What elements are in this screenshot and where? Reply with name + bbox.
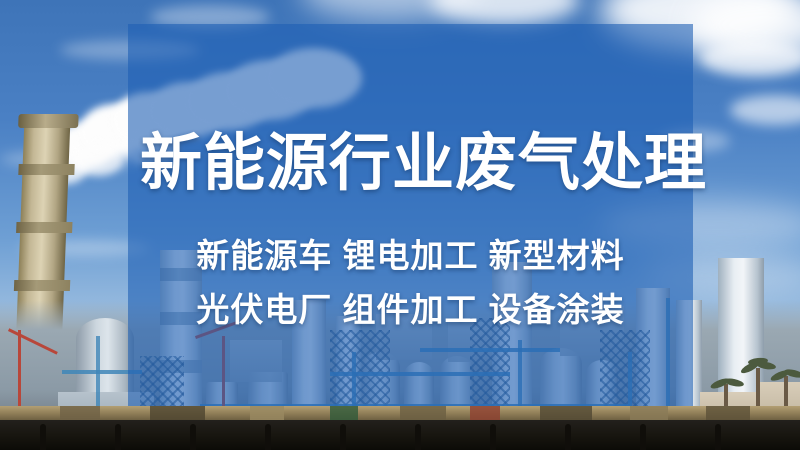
pier-piling (490, 424, 496, 450)
banner-title: 新能源行业废气处理 (140, 132, 681, 196)
smokestack-lip (18, 114, 79, 128)
banner-subtitle-line-2: 光伏电厂 组件加工 设备涂装 (140, 292, 681, 328)
banner-text-layer: 新能源行业废气处理 新能源车 锂电加工 新型材料 光伏电厂 组件加工 设备涂装 (128, 24, 693, 424)
pier-piling (415, 424, 421, 450)
construction-crane (18, 330, 21, 414)
promotional-banner: 新能源行业废气处理 新能源车 锂电加工 新型材料 光伏电厂 组件加工 设备涂装 (0, 0, 800, 450)
pier-piling (340, 424, 346, 450)
cloud (730, 95, 800, 125)
pier-piling (565, 424, 571, 450)
pier-piling (640, 424, 646, 450)
smokestack-band (16, 222, 72, 233)
cloud (700, 40, 800, 76)
pier-piling (40, 424, 46, 450)
pier-piling (190, 424, 196, 450)
smokestack-band (18, 164, 74, 175)
pier-piling (715, 424, 721, 450)
banner-subtitle-line-1: 新能源车 锂电加工 新型材料 (140, 238, 681, 274)
pier-piling (265, 424, 271, 450)
pier-piling (115, 424, 121, 450)
smokestack-band (14, 280, 70, 291)
